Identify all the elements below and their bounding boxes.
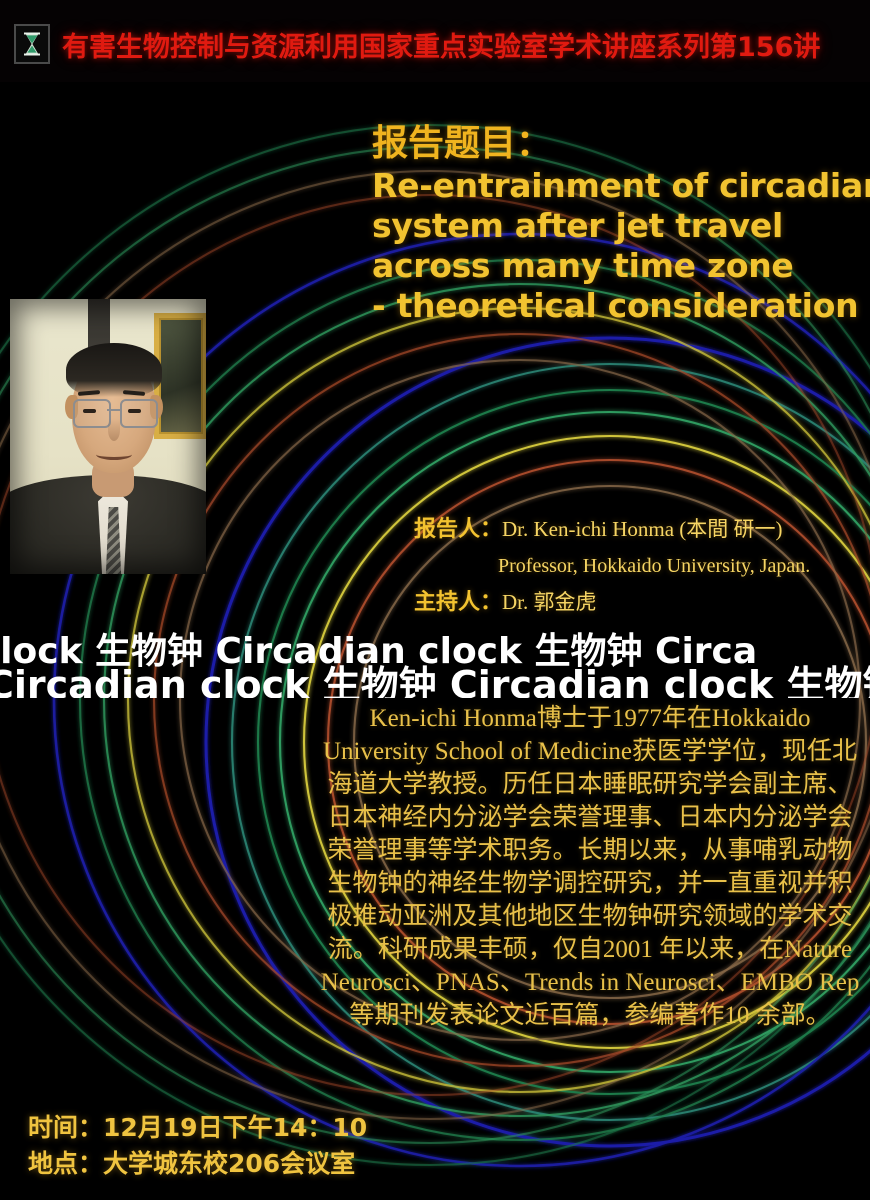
hourglass-icon xyxy=(14,24,50,64)
host-label: 主持人： xyxy=(414,590,502,615)
avatar xyxy=(10,299,206,574)
title-line-4: - theoretical consideration xyxy=(372,286,852,326)
header-banner: 有害生物控制与资源利用国家重点实验室学术讲座系列第156讲 xyxy=(0,0,870,82)
event-place: 地点：大学城东校206会议室 xyxy=(28,1146,367,1182)
event-time: 时间：12月19日下午14：10 xyxy=(28,1110,367,1146)
speaker-row: 报告人：Dr. Ken-ichi Honma (本間 研一) xyxy=(414,512,870,549)
host-name: Dr. 郭金虎 xyxy=(502,590,597,614)
event-details: 时间：12月19日下午14：10 地点：大学城东校206会议室 xyxy=(28,1110,367,1182)
page-title: 报告题目： Re-entrainment of circadian system… xyxy=(372,122,852,326)
marquee-band: ian clock 生物钟 Circadian clock 生物钟 Circa … xyxy=(0,626,870,698)
host-row: 主持人：Dr. 郭金虎 xyxy=(414,585,870,622)
seminar-poster: 有害生物控制与资源利用国家重点实验室学术讲座系列第156讲 报告题目： Re-e… xyxy=(0,0,870,1200)
title-line-1: Re-entrainment of circadian xyxy=(372,166,852,206)
photo-vignette xyxy=(10,299,206,574)
header-banner-title: 有害生物控制与资源利用国家重点实验室学术讲座系列第156讲 xyxy=(62,25,820,64)
title-label-cn: 报告题目： xyxy=(372,122,852,166)
title-line-2: system after jet travel xyxy=(372,206,852,246)
speaker-affiliation-row: Professor, Hokkaido University, Japan. xyxy=(414,549,870,585)
marquee-line-bottom: Circadian clock 生物钟 Circadian clock 生物钟 xyxy=(0,654,870,698)
speaker-affiliation: Professor, Hokkaido University, Japan. xyxy=(498,555,810,577)
speaker-info: 报告人：Dr. Ken-ichi Honma (本間 研一) Professor… xyxy=(414,512,870,622)
speaker-name: Dr. Ken-ichi Honma (本間 研一) xyxy=(502,517,783,541)
speaker-label: 报告人： xyxy=(414,517,502,542)
speaker-biography: Ken-ichi Honma博士于1977年在Hokkaido Universi… xyxy=(320,702,860,1032)
title-line-3: across many time zone xyxy=(372,246,852,286)
